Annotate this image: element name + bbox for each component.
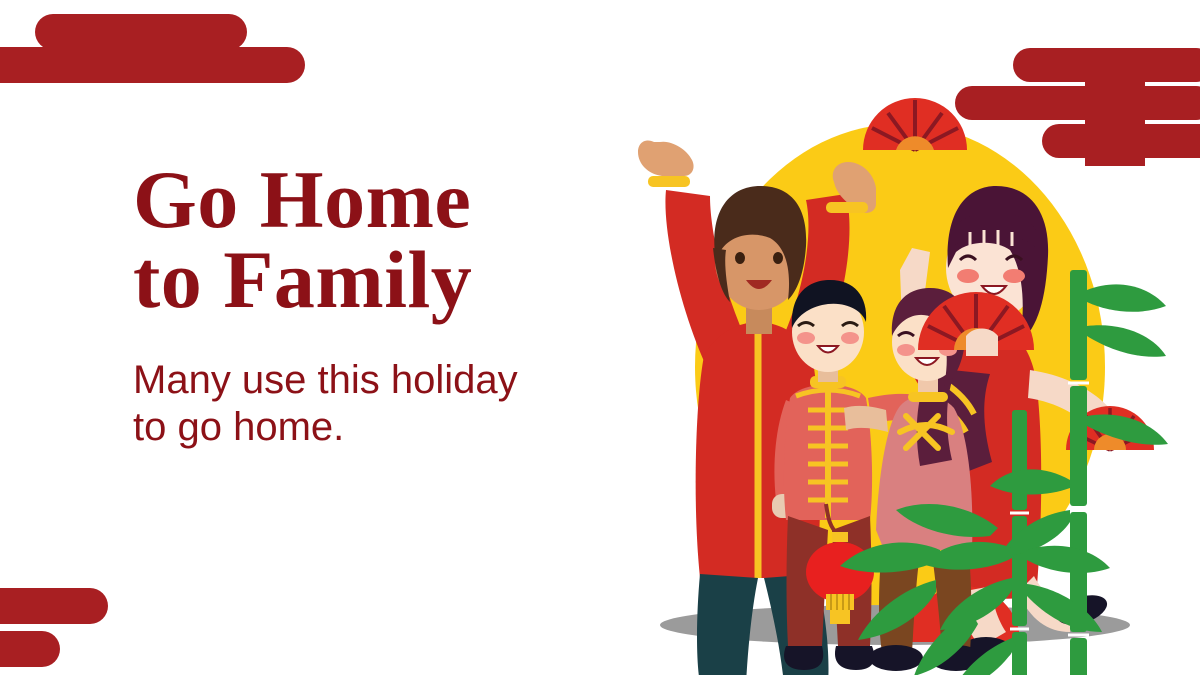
slide-canvas: Go Home to Family Many use this holiday … (0, 0, 1200, 675)
headline-line-1: Go Home (133, 160, 603, 240)
folding-fan-top (863, 98, 967, 150)
cloud-bar (0, 588, 108, 624)
cloud-bar (35, 14, 247, 50)
headline-line-2: to Family (133, 240, 603, 320)
text-block: Go Home to Family Many use this holiday … (133, 160, 603, 451)
subhead-line-2: to go home. (133, 404, 603, 451)
cloud-bar (1013, 48, 1200, 82)
subhead-line-1: Many use this holiday (133, 357, 603, 404)
chinese-new-year-family-illustration (600, 80, 1200, 675)
page-title: Go Home to Family (133, 160, 603, 321)
cloud-bar (0, 631, 60, 667)
page-subtitle: Many use this holiday to go home. (133, 357, 603, 451)
bottom-left-cloud-icon (0, 588, 140, 675)
cloud-bar (0, 47, 305, 83)
top-left-cloud-icon (0, 0, 330, 100)
